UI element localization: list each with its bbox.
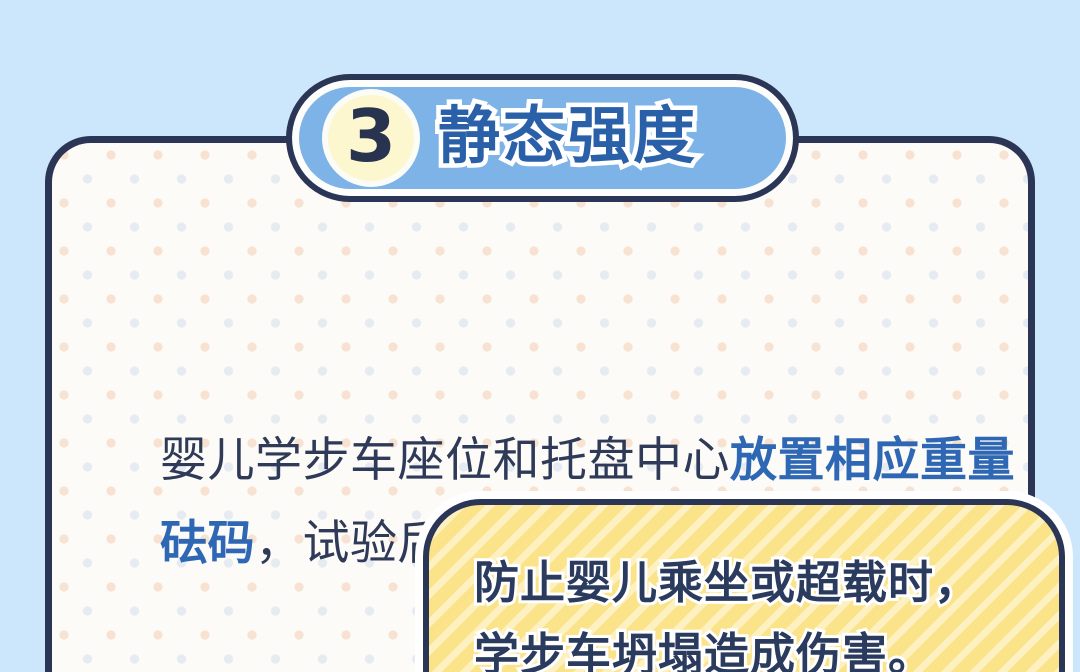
callout-line-2: 学步车坍塌造成伤害。 <box>474 619 1034 672</box>
body-segment-plain-1: 婴儿学步车座位和托盘中心 <box>160 433 730 488</box>
section-number: 3 <box>346 100 396 172</box>
section-header-pill: 3 静态强度 <box>286 74 799 202</box>
callout-line-1: 防止婴儿乘坐或超载时， <box>474 547 1034 619</box>
section-number-badge: 3 <box>322 89 420 187</box>
poster-stage: 婴儿学步车座位和托盘中心放置相应重量砝码，试验后，学步车不应损坏、坍塌。 3 静… <box>0 0 1080 672</box>
section-title: 静态强度 <box>438 105 698 167</box>
callout-text: 防止婴儿乘坐或超载时， 学步车坍塌造成伤害。 <box>474 547 1034 672</box>
warning-callout: 防止婴儿乘坐或超载时， 学步车坍塌造成伤害。 <box>423 499 1065 672</box>
